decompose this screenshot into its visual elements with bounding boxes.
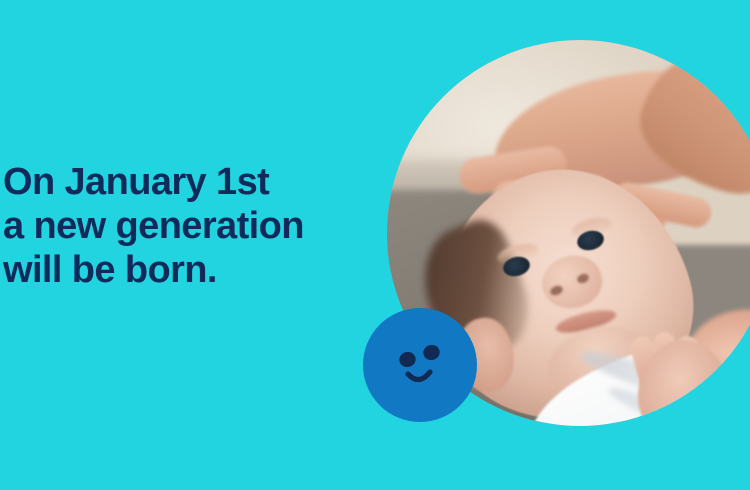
- headline-line-1: On January 1st: [3, 160, 403, 204]
- smiley-face-logo: [363, 308, 477, 422]
- headline-line-3: will be born.: [3, 248, 403, 292]
- logo-circle: [363, 308, 477, 422]
- headline-line-2: a new generation: [3, 204, 403, 248]
- campaign-banner: Newborn baby lying down looking upward w…: [0, 0, 750, 490]
- headline: On January 1st a new generation will be …: [3, 160, 403, 292]
